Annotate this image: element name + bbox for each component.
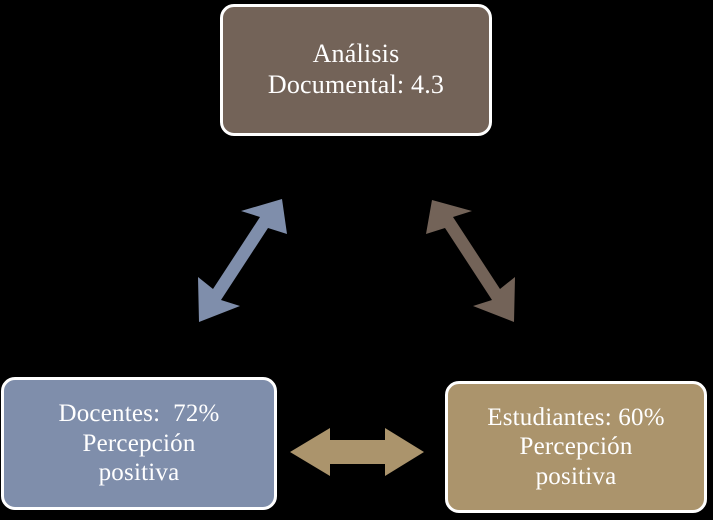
node-analisis-documental-line-2: Documental: 4.3 — [268, 70, 444, 101]
node-estudiantes-line-1: Estudiantes: 60% — [487, 403, 664, 433]
node-analisis-documental-line-1: Análisis — [313, 39, 400, 70]
node-estudiantes-line-2: Percepción — [519, 432, 632, 462]
node-analisis-documental[interactable]: Análisis Documental: 4.3 — [220, 4, 492, 136]
node-docentes-line-2: Percepción — [82, 429, 195, 459]
arrow-analisis-docentes-icon — [198, 199, 287, 322]
node-docentes[interactable]: Docentes: 72% Percepción positiva — [1, 377, 277, 510]
diagram-canvas: Análisis Documental: 4.3 Docentes: 72% P… — [0, 0, 713, 520]
node-docentes-line-3: positiva — [99, 458, 180, 488]
node-docentes-line-1: Docentes: 72% — [58, 399, 219, 429]
arrow-analisis-estudiantes-icon — [426, 200, 515, 322]
arrow-docentes-estudiantes-icon — [290, 428, 424, 476]
node-estudiantes[interactable]: Estudiantes: 60% Percepción positiva — [445, 381, 707, 513]
node-estudiantes-line-3: positiva — [536, 462, 617, 492]
